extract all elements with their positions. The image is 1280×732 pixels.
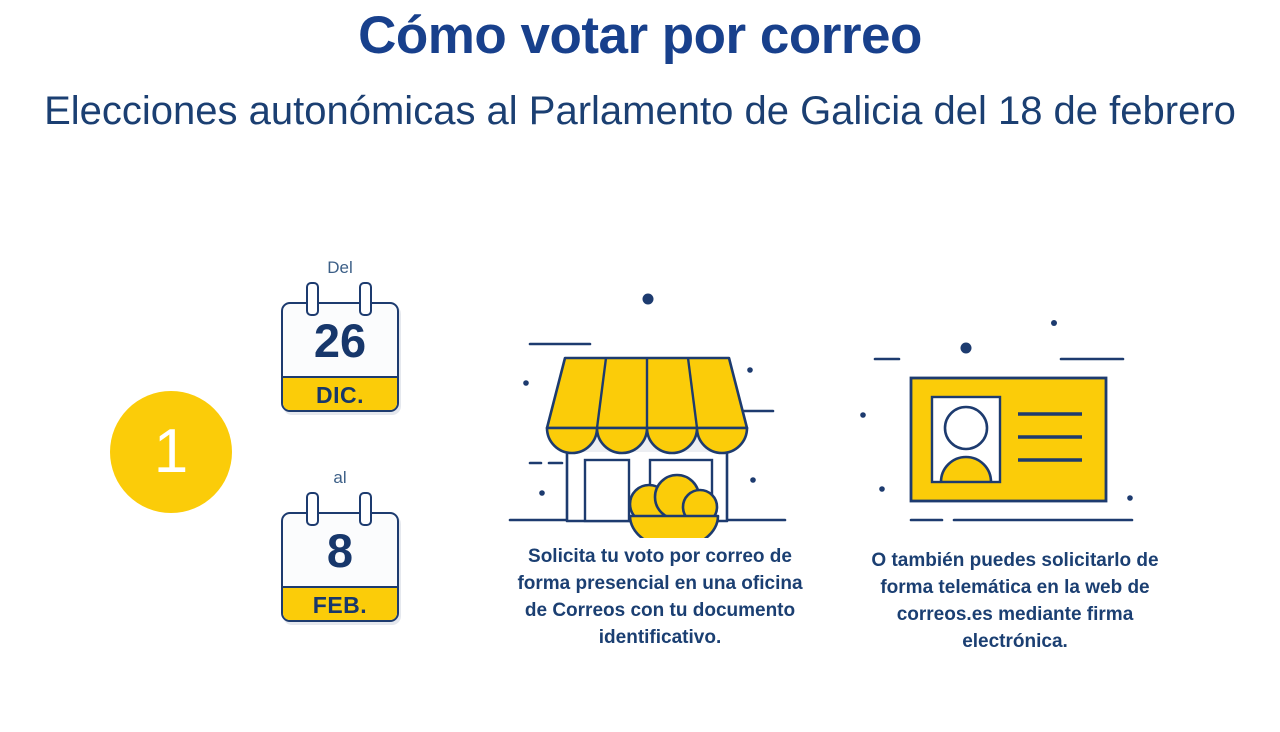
calendar-ring-right-icon (359, 492, 372, 526)
id-card-icon (850, 298, 1180, 548)
header: Cómo votar por correo Elecciones autonóm… (0, 0, 1280, 136)
calendar-day-number: 26 (283, 304, 397, 376)
date-prefix-label: al (260, 468, 420, 488)
date-range-end: al 8 FEB. (260, 468, 420, 622)
step-number-label: 1 (154, 421, 188, 483)
calendar-body: 26 DIC. (281, 302, 399, 412)
option-caption: Solicita tu voto por correo de forma pre… (495, 538, 825, 652)
calendar-month-label: FEB. (283, 586, 397, 622)
page-title: Cómo votar por correo (0, 0, 1280, 64)
date-prefix-label: Del (260, 258, 420, 278)
calendar-month-label: DIC. (283, 376, 397, 412)
post-office-shop-icon (495, 288, 825, 538)
option-in-person: Solicita tu voto por correo de forma pre… (495, 288, 825, 652)
calendar-ring-left-icon (306, 282, 319, 316)
calendar-icon: 26 DIC. (281, 282, 399, 412)
calendar-day-number: 8 (283, 514, 397, 586)
option-caption: O también puedes solicitarlo de forma te… (850, 548, 1180, 656)
calendar-ring-right-icon (359, 282, 372, 316)
calendar-icon: 8 FEB. (281, 492, 399, 622)
option-online: O también puedes solicitarlo de forma te… (850, 298, 1180, 656)
calendar-body: 8 FEB. (281, 512, 399, 622)
calendar-ring-left-icon (306, 492, 319, 526)
date-range-start: Del 26 DIC. (260, 258, 420, 412)
page-subtitle: Elecciones autonómicas al Parlamento de … (0, 64, 1280, 136)
step-number-badge: 1 (110, 391, 232, 513)
infographic-canvas: Cómo votar por correo Elecciones autonóm… (0, 0, 1280, 732)
